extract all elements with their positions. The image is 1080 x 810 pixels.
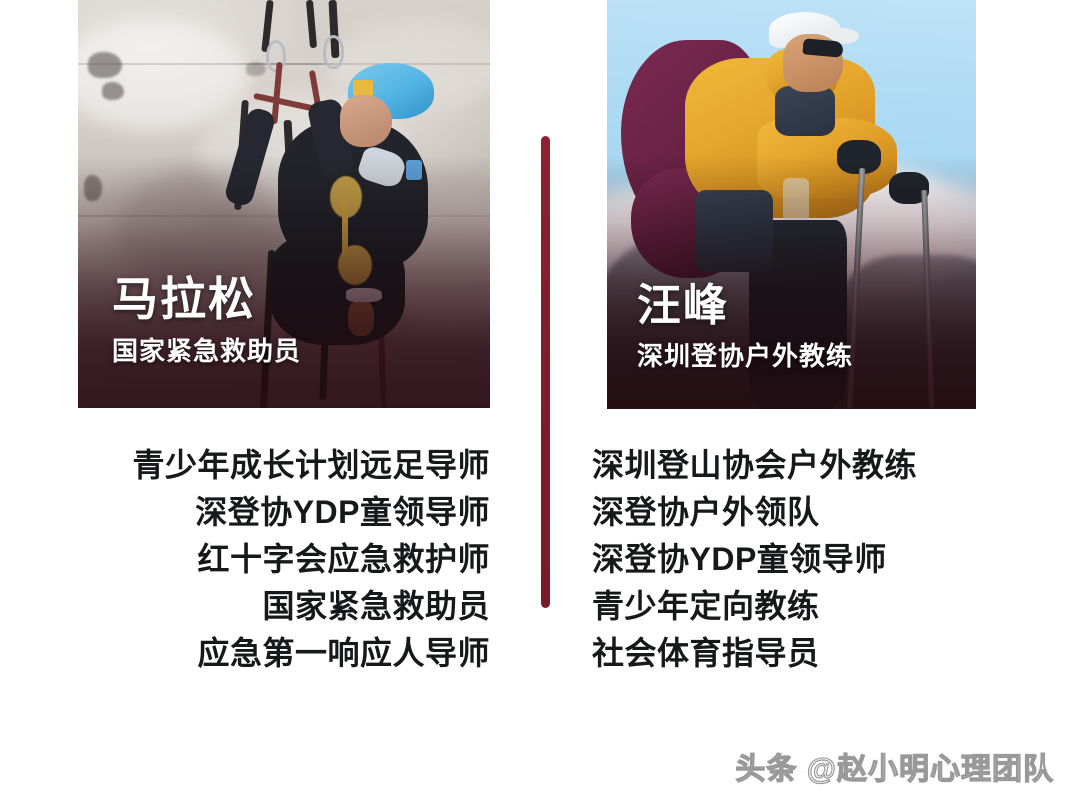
credential-item: 深圳登山协会户外教练 [592,442,1012,489]
climbing-hold [246,62,266,76]
climber-face [340,95,392,147]
carabiner [323,35,344,69]
profile-role: 国家紧急救助员 [112,331,301,368]
credential-item: 深登协YDP童领导师 [80,489,490,536]
profile-caption-left: 马拉松 国家紧急救助员 [112,275,301,368]
credential-item: 深登协户外领队 [592,489,1012,536]
profile-photo-card-left: 马拉松 国家紧急救助员 [78,0,490,408]
credentials-list-right: 深圳登山协会户外教练 深登协户外领队 深登协YDP童领导师 青少年定向教练 社会… [592,442,1012,677]
climbing-hold [102,82,124,100]
credential-item: 国家紧急救助员 [80,583,490,630]
credential-item: 青少年成长计划远足导师 [80,442,490,489]
profile-caption-right: 汪峰 深圳登协户外教练 [637,282,853,373]
jacket-chest-panel [775,86,835,136]
credential-item: 红十字会应急救护师 [80,536,490,583]
credential-item: 社会体育指导员 [592,630,1012,677]
credential-item: 青少年定向教练 [592,583,1012,630]
sunglasses [802,38,843,57]
climbing-hold [88,52,122,78]
helmet-badge [353,80,373,96]
watermark: 头条 @赵小明心理团队 [735,744,1054,788]
profile-photo-card-right: 汪峰 深圳登协户外教练 [607,0,976,409]
credential-item: 应急第一响应人导师 [80,630,490,677]
profile-name: 汪峰 [637,282,853,330]
credentials-list-left: 青少年成长计划远足导师 深登协YDP童领导师 红十字会应急救护师 国家紧急救助员… [80,442,490,677]
credential-item: 深登协YDP童领导师 [592,536,1012,583]
vertical-divider [541,136,550,608]
profile-role: 深圳登协户外教练 [637,336,853,373]
profile-name: 马拉松 [112,275,301,325]
